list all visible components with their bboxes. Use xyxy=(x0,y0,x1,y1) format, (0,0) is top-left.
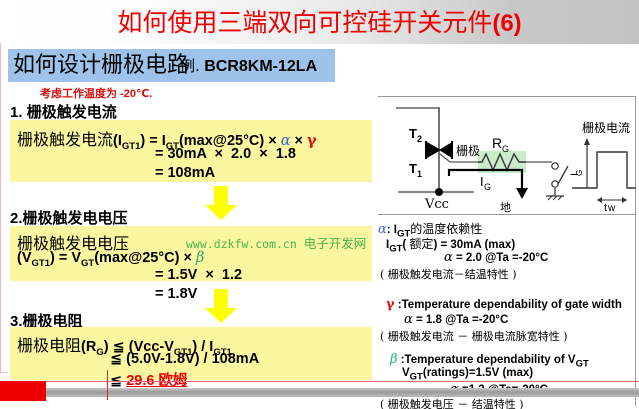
svg-text:G: G xyxy=(484,182,491,192)
page-title: 如何使用三端双向可控硅开关元件(6) xyxy=(0,4,639,42)
formula-3-line-2: ≦ (5.0V-1.8V) / 108mA xyxy=(110,351,259,367)
note-alpha-line-3: α = 2.0 @Ta =-20°C xyxy=(444,250,548,265)
formula-2-line-3: = 1.5V × 1.2 xyxy=(155,267,242,283)
section-2-heading: 2.栅极触发电电压 xyxy=(10,207,128,228)
beta-symbol-inline: β xyxy=(196,250,204,266)
watermark-cn: 电子开发网 xyxy=(304,236,367,251)
section-1-index: 1. xyxy=(10,104,23,121)
operating-temperature-note: 考虑工作温度为 -20℃. xyxy=(40,85,152,101)
section-2-title: 栅极触发电电压 xyxy=(23,209,128,227)
note-alpha-caption: ( 栅极触发电流－结温特性 ) xyxy=(380,266,517,282)
svg-text:栅极: 栅极 xyxy=(456,143,480,158)
svg-text:t: t xyxy=(604,202,607,214)
circuit-diagram: T 2 T 1 栅极 R G I G Vcc 地 栅极电流 I G t w xyxy=(392,104,636,219)
right-panel-top-divider xyxy=(378,96,636,97)
svg-text:G: G xyxy=(502,144,509,154)
bottom-left-red-tick xyxy=(107,370,108,400)
svg-text:w: w xyxy=(607,203,616,214)
formula-1-line-2: = 30mA × 2.0 × 1.8 xyxy=(155,146,296,162)
note-gamma-line-2: α = 1.8 @Ta =-20°C xyxy=(404,312,508,327)
formula-2-line-4: = 1.8V xyxy=(155,286,197,302)
down-arrow-1-icon xyxy=(205,186,237,220)
formula-3-line-3: ≦ 29.6 欧姆 xyxy=(110,369,187,390)
svg-text:G: G xyxy=(575,170,584,176)
beta-symbol: β xyxy=(390,352,398,367)
gamma-symbol: γ xyxy=(386,297,395,312)
example-prefix: 例. xyxy=(180,57,200,75)
bottom-red-rule xyxy=(0,381,639,382)
formula-1-line-3: = 108mA xyxy=(155,165,215,181)
note-beta-line-2: VGT(ratings)=1.5V (max) xyxy=(402,367,533,382)
svg-text:T: T xyxy=(409,161,417,176)
page-title-cn: 如何使用三端双向可控硅开关元件 xyxy=(117,8,492,37)
formula-1-label: 栅极触发电流 xyxy=(17,130,113,149)
section-2-index: 2. xyxy=(10,210,23,227)
svg-text:栅极电流: 栅极电流 xyxy=(582,120,630,135)
bottom-left-red-square xyxy=(0,381,46,401)
svg-text:T: T xyxy=(409,126,417,141)
down-arrow-2-icon xyxy=(205,289,237,323)
example-label: 例. BCR8KM-12LA xyxy=(180,56,317,77)
section-1-heading: 1. 栅极触发电流 xyxy=(10,101,117,122)
svg-text:Vcc: Vcc xyxy=(424,197,449,212)
gamma-symbol-inline: γ xyxy=(307,132,317,149)
note-gamma-title: :Temperature dependability of gate width xyxy=(398,299,622,311)
left-vertical-rule xyxy=(0,43,1,373)
svg-text:1: 1 xyxy=(417,169,422,179)
note-gamma-caption: ( 栅极触发电流 － 栅极电流脉宽特性 ) xyxy=(380,328,568,344)
left-horizontal-rule xyxy=(0,372,8,373)
note-gamma-line-1: γ :Temperature dependability of gate wid… xyxy=(386,297,622,312)
formula-3-label: 栅极电阻 xyxy=(17,336,81,355)
svg-text:地: 地 xyxy=(500,201,511,214)
section-1-title: 栅极触发电流 xyxy=(27,103,117,121)
subtitle-text: 如何设计栅极电路 xyxy=(13,50,189,81)
example-part-number: BCR8KM-12LA xyxy=(204,58,317,75)
page-title-number: (6) xyxy=(492,10,521,37)
bottom-gradient-bar xyxy=(0,388,639,397)
note-beta-caption: ( 栅极触发电压 － 结温特性 ) xyxy=(380,396,524,409)
watermark-url: www.dzkfw.com.cn xyxy=(186,237,297,251)
svg-text:2: 2 xyxy=(417,134,422,144)
watermark: www.dzkfw.com.cn 电子开发网 xyxy=(186,233,366,252)
note-beta-title: :Temperature dependability of VGT xyxy=(401,354,589,366)
slide-canvas: 如何使用三端双向可控硅开关元件(6) 如何设计栅极电路 例. BCR8KM-12… xyxy=(0,0,639,409)
svg-text:R: R xyxy=(492,135,502,151)
